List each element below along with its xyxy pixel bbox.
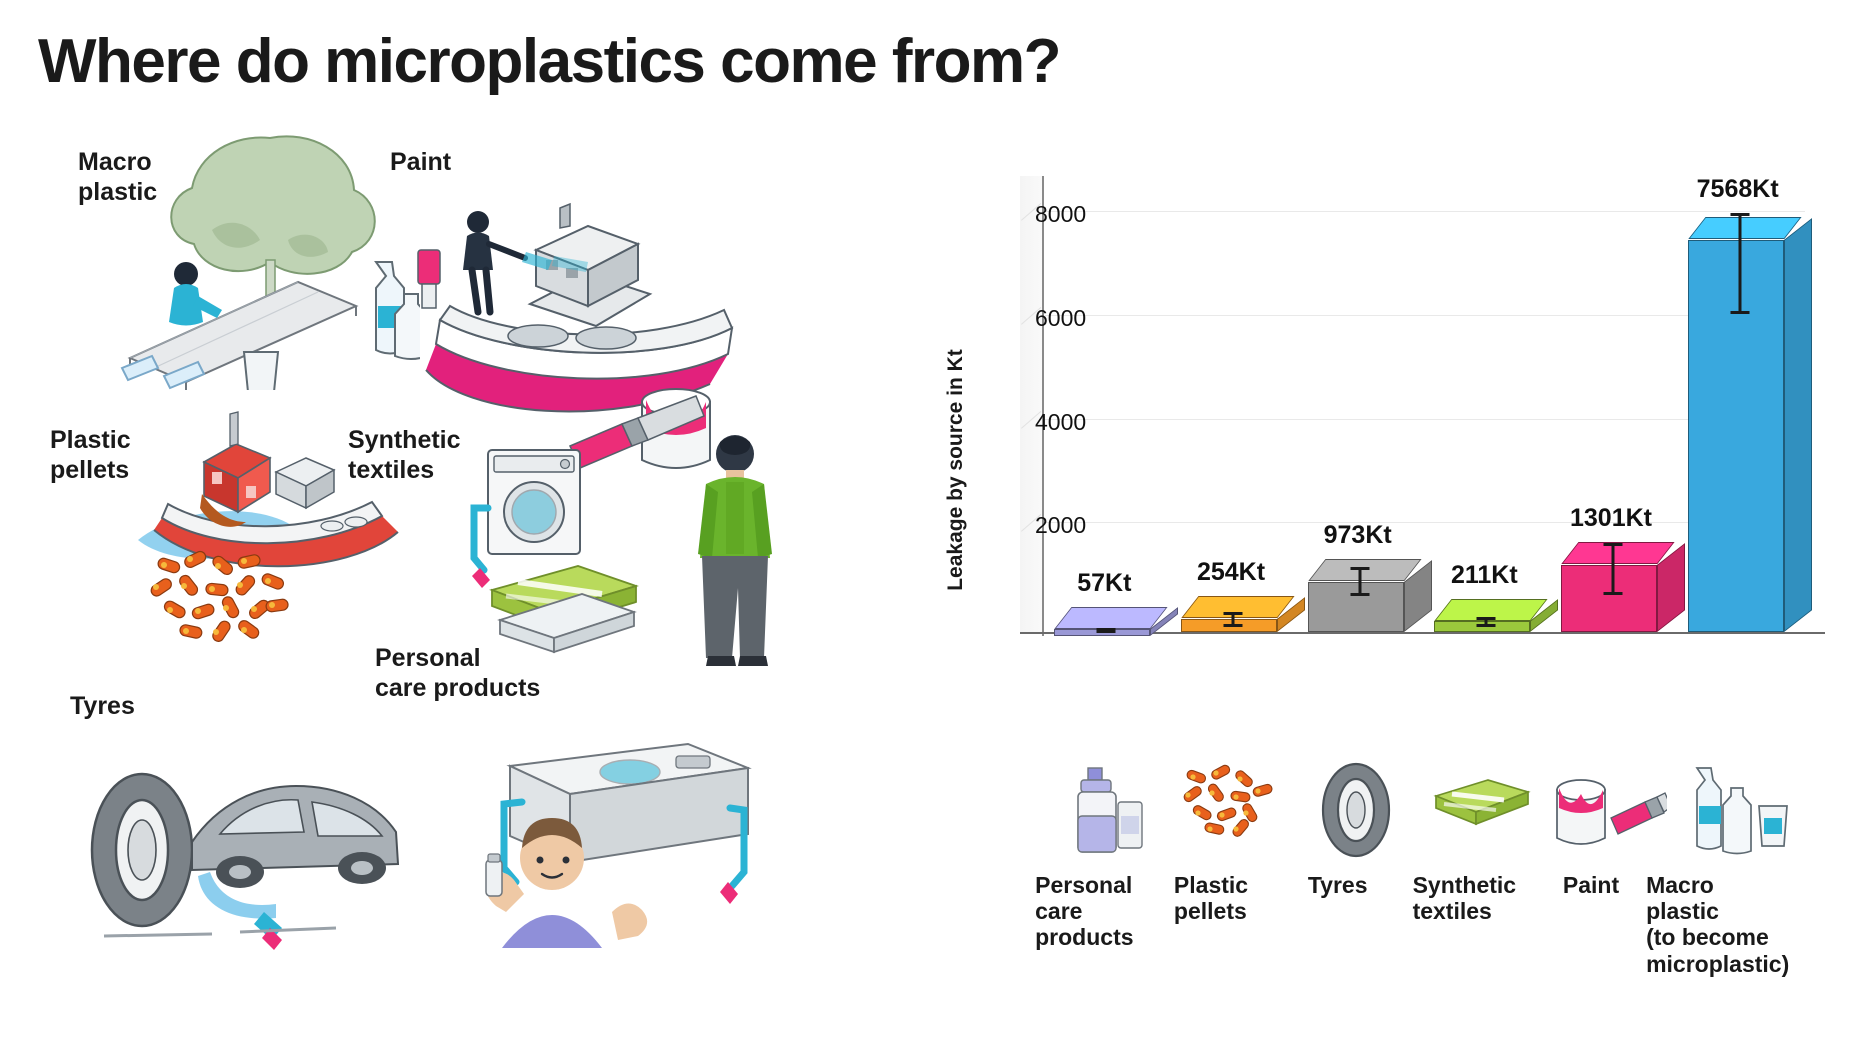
tyre-icon — [1316, 762, 1396, 863]
error-bar-cap — [1730, 311, 1749, 314]
bar-front-face — [1561, 565, 1657, 632]
x-axis-label-1: Personal care products — [1035, 872, 1133, 951]
x-axis-label-2: Plastic pellets — [1174, 872, 1248, 924]
bar-value-label: 7568Kt — [1697, 175, 1779, 204]
error-bar-cap — [1730, 213, 1749, 216]
bar-3 — [1308, 582, 1404, 632]
macro-plastic-illustration — [120, 120, 420, 390]
bar-top-face — [1308, 559, 1422, 581]
personal-care-illustration — [430, 710, 760, 950]
bar-6 — [1688, 240, 1784, 632]
error-bar-cap — [1097, 630, 1116, 633]
tyres-illustration — [80, 722, 410, 952]
error-bar-cap — [1477, 624, 1496, 627]
x-axis-label-4: Synthetic textiles — [1413, 872, 1517, 924]
y-axis-title: Leakage by source in Kt — [944, 300, 968, 640]
synthetic-textiles-illustration — [470, 430, 690, 660]
illustration-label-tyres: Tyres — [70, 692, 135, 722]
illustration-label-paint: Paint — [390, 148, 451, 178]
bar-value-label: 57Kt — [1077, 569, 1131, 598]
x-axis-label-5: Paint — [1563, 872, 1619, 898]
error-bar — [1612, 543, 1615, 592]
y-axis-line — [1042, 176, 1044, 636]
bar-value-label: 254Kt — [1197, 558, 1265, 587]
person-green-jacket-illustration — [680, 428, 790, 678]
chart-back-wall — [1020, 176, 1044, 632]
folded-tshirt-icon — [1430, 762, 1534, 839]
error-bar-cap — [1604, 543, 1623, 546]
soap-dispenser-bottle-icon — [1056, 762, 1148, 863]
bar-value-label: 973Kt — [1324, 521, 1392, 550]
bar-value-label: 211Kt — [1451, 561, 1518, 590]
error-bar-cap — [1604, 592, 1623, 595]
bar-top-face — [1054, 607, 1168, 629]
bar-front-face — [1688, 240, 1784, 632]
illustration-label-personal-care: Personal care products — [375, 644, 540, 703]
plastic-pellets-pile-icon — [1179, 762, 1279, 843]
plastic-bottles-icon — [1679, 762, 1793, 863]
bar-5 — [1561, 565, 1657, 632]
bar-front-face — [1308, 582, 1404, 632]
illustration-label-synthetic-textiles: Synthetic textiles — [348, 426, 461, 485]
x-axis-label-3: Tyres — [1308, 872, 1368, 898]
paint-can-brush-icon — [1551, 762, 1667, 857]
error-bar-cap — [1350, 593, 1369, 596]
gridline — [1045, 211, 1805, 212]
illustration-panel: Macro plastic — [0, 110, 780, 1054]
error-bar-cap — [1224, 624, 1243, 627]
error-bar-cap — [1350, 567, 1369, 570]
error-bar — [1358, 567, 1361, 592]
error-bar-cap — [1224, 612, 1243, 615]
x-axis-label-6: Macro plastic (to become microplastic) — [1646, 872, 1789, 977]
error-bar-cap — [1477, 617, 1496, 620]
error-bar — [1738, 213, 1741, 311]
bar-value-label: 1301Kt — [1570, 504, 1652, 533]
bar-side-face — [1784, 218, 1812, 632]
infographic-root: Where do microplastics come from? Macro … — [0, 0, 1872, 1054]
bar-top-face — [1688, 217, 1802, 239]
bar-top-face — [1181, 596, 1295, 618]
illustration-label-plastic-pellets: Plastic pellets — [50, 426, 131, 485]
page-title: Where do microplastics come from? — [38, 26, 1060, 97]
